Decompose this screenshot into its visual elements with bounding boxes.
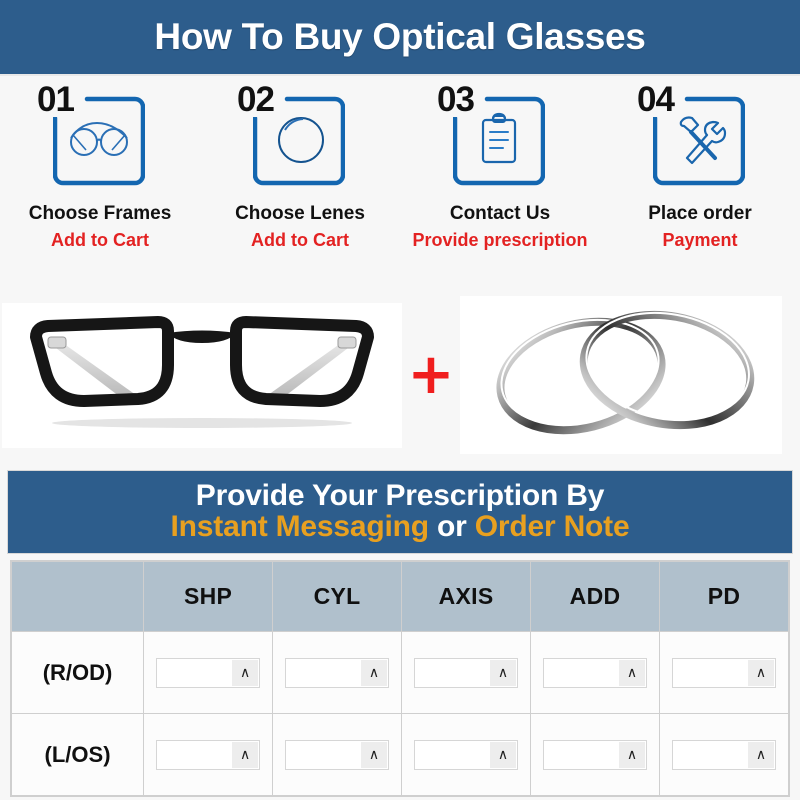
cell-l-pd: ∧ bbox=[660, 714, 789, 796]
cell-r-cyl: ∧ bbox=[273, 632, 402, 714]
column-header-cyl: CYL bbox=[273, 562, 402, 632]
step-number-2: 02 bbox=[237, 82, 276, 117]
connector-text: or bbox=[429, 510, 475, 543]
step-badge-4: 04 bbox=[637, 84, 763, 188]
step-badge-3: 03 bbox=[437, 84, 563, 188]
spinner-r-add[interactable]: ∧ bbox=[543, 658, 647, 688]
table-row: (L/OS) ∧ ∧ ∧ bbox=[12, 714, 789, 796]
cell-l-axis: ∧ bbox=[402, 714, 531, 796]
step-label-3: Contact Us bbox=[450, 202, 550, 226]
prescription-table-container: SHP CYL AXIS ADD PD (R/OD) ∧ bbox=[10, 560, 790, 797]
chevron-up-icon[interactable]: ∧ bbox=[748, 742, 774, 768]
step-item-3[interactable]: 03 Contact Us Provide prescription bbox=[400, 84, 600, 284]
order-note-text: Order Note bbox=[475, 510, 630, 543]
product-images-row: + bbox=[0, 284, 800, 466]
input-r-pd[interactable] bbox=[673, 659, 748, 687]
input-l-shp[interactable] bbox=[157, 741, 232, 769]
spinner-l-axis[interactable]: ∧ bbox=[414, 740, 518, 770]
cell-r-shp: ∧ bbox=[144, 632, 273, 714]
chevron-up-icon[interactable]: ∧ bbox=[361, 660, 387, 686]
page-title: How To Buy Optical Glasses bbox=[154, 16, 645, 58]
lens-circle-icon bbox=[267, 110, 331, 170]
row-label-left-eye: (L/OS) bbox=[12, 714, 144, 796]
chevron-up-icon[interactable]: ∧ bbox=[490, 660, 516, 686]
step-number-1: 01 bbox=[37, 82, 76, 117]
prescription-banner: Provide Your Prescription By Instant Mes… bbox=[7, 470, 793, 554]
step-item-2[interactable]: 02 Choose Lenes Add to Cart bbox=[200, 84, 400, 284]
chevron-up-icon[interactable]: ∧ bbox=[748, 660, 774, 686]
step-sublabel-3: Provide prescription bbox=[412, 230, 587, 252]
input-r-axis[interactable] bbox=[415, 659, 490, 687]
input-l-add[interactable] bbox=[544, 741, 619, 769]
chevron-up-icon[interactable]: ∧ bbox=[361, 742, 387, 768]
chevron-up-icon[interactable]: ∧ bbox=[619, 742, 645, 768]
chevron-up-icon[interactable]: ∧ bbox=[232, 660, 258, 686]
step-number-4: 04 bbox=[637, 82, 676, 117]
steps-strip: 01 Choose Frames Add to Cart 02 bbox=[0, 76, 800, 284]
step-item-4[interactable]: 04 Place order Payment bbox=[600, 84, 800, 284]
eyeglasses-icon bbox=[67, 110, 131, 170]
chevron-up-icon[interactable]: ∧ bbox=[619, 660, 645, 686]
column-header-pd: PD bbox=[660, 562, 789, 632]
step-sublabel-1: Add to Cart bbox=[51, 230, 149, 252]
input-l-axis[interactable] bbox=[415, 741, 490, 769]
chevron-up-icon[interactable]: ∧ bbox=[490, 742, 516, 768]
optical-lens-image[interactable] bbox=[460, 296, 782, 454]
spinner-r-pd[interactable]: ∧ bbox=[672, 658, 776, 688]
step-sublabel-4: Payment bbox=[662, 230, 737, 252]
cell-r-axis: ∧ bbox=[402, 632, 531, 714]
step-badge-2: 02 bbox=[237, 84, 363, 188]
prescription-banner-line2: Instant Messaging or Order Note bbox=[171, 512, 630, 543]
column-header-axis: AXIS bbox=[402, 562, 531, 632]
table-row: (R/OD) ∧ ∧ ∧ bbox=[12, 632, 789, 714]
column-header-add: ADD bbox=[531, 562, 660, 632]
spinner-r-cyl[interactable]: ∧ bbox=[285, 658, 389, 688]
step-badge-1: 01 bbox=[37, 84, 163, 188]
column-header-shp: SHP bbox=[144, 562, 273, 632]
input-r-cyl[interactable] bbox=[286, 659, 361, 687]
page-header-banner: How To Buy Optical Glasses bbox=[0, 0, 800, 76]
instant-messaging-text: Instant Messaging bbox=[171, 510, 429, 543]
step-label-1: Choose Frames bbox=[29, 202, 172, 226]
spinner-l-pd[interactable]: ∧ bbox=[672, 740, 776, 770]
eyeglass-frame-image[interactable] bbox=[2, 303, 402, 448]
input-r-shp[interactable] bbox=[157, 659, 232, 687]
step-number-3: 03 bbox=[437, 82, 476, 117]
spinner-l-add[interactable]: ∧ bbox=[543, 740, 647, 770]
prescription-banner-line1: Provide Your Prescription By bbox=[196, 481, 604, 512]
step-sublabel-2: Add to Cart bbox=[251, 230, 349, 252]
spinner-r-shp[interactable]: ∧ bbox=[156, 658, 260, 688]
spinner-r-axis[interactable]: ∧ bbox=[414, 658, 518, 688]
row-label-right-eye: (R/OD) bbox=[12, 632, 144, 714]
spinner-l-cyl[interactable]: ∧ bbox=[285, 740, 389, 770]
spinner-l-shp[interactable]: ∧ bbox=[156, 740, 260, 770]
input-l-cyl[interactable] bbox=[286, 741, 361, 769]
plus-icon: + bbox=[402, 353, 460, 398]
prescription-table-head: SHP CYL AXIS ADD PD bbox=[12, 562, 789, 632]
step-label-4: Place order bbox=[648, 202, 752, 226]
input-l-pd[interactable] bbox=[673, 741, 748, 769]
table-corner-cell bbox=[12, 562, 144, 632]
step-label-2: Choose Lenes bbox=[235, 202, 365, 226]
prescription-table-body: (R/OD) ∧ ∧ ∧ bbox=[12, 632, 789, 796]
cell-l-add: ∧ bbox=[531, 714, 660, 796]
table-header-row: SHP CYL AXIS ADD PD bbox=[12, 562, 789, 632]
cell-r-pd: ∧ bbox=[660, 632, 789, 714]
cell-l-cyl: ∧ bbox=[273, 714, 402, 796]
input-r-add[interactable] bbox=[544, 659, 619, 687]
cell-r-add: ∧ bbox=[531, 632, 660, 714]
clipboard-icon bbox=[467, 110, 531, 170]
chevron-up-icon[interactable]: ∧ bbox=[232, 742, 258, 768]
prescription-table: SHP CYL AXIS ADD PD (R/OD) ∧ bbox=[11, 561, 789, 796]
hammer-wrench-icon bbox=[667, 110, 731, 170]
step-item-1[interactable]: 01 Choose Frames Add to Cart bbox=[0, 84, 200, 284]
cell-l-shp: ∧ bbox=[144, 714, 273, 796]
